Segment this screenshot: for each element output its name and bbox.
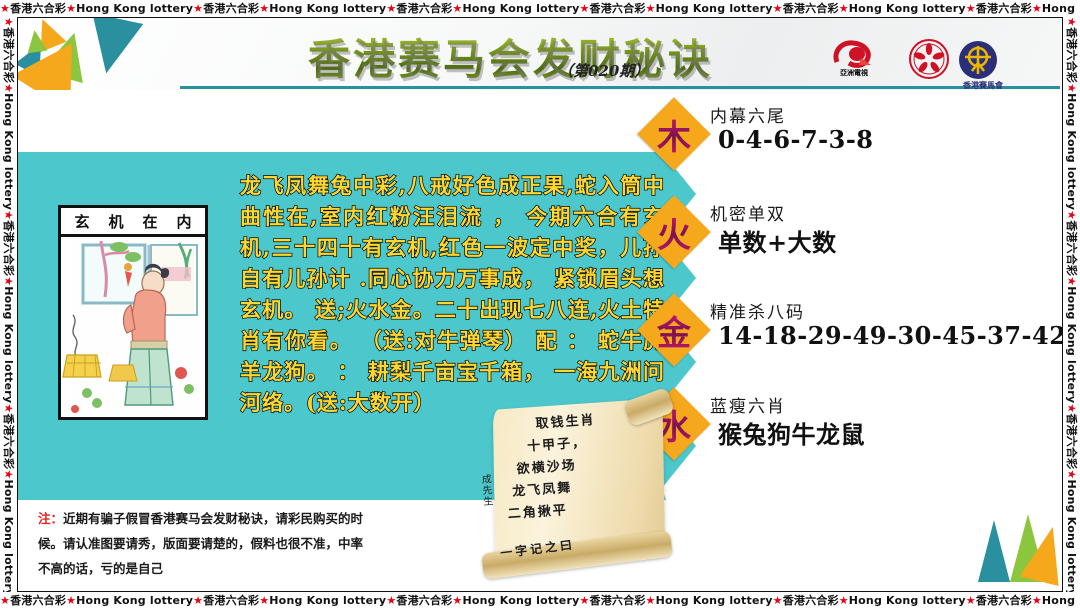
marquee-top-text: ★香港六合彩★Hong Kong lottery★香港六合彩★Hong Kong… xyxy=(0,2,1080,15)
prediction-label-water: 蓝瘦六肖 xyxy=(710,392,786,417)
marquee-top: ★香港六合彩★Hong Kong lottery★香港六合彩★Hong Kong… xyxy=(0,0,1080,17)
prediction-row-water: 水 蓝瘦六肖 猴兔狗牛龙鼠 xyxy=(648,392,1058,466)
illustration-svg xyxy=(61,237,205,417)
note-line-1: 近期有骗子假冒香港赛马会发财秘诀，请彩民购买的时 xyxy=(63,511,363,526)
element-glyph-metal: 金 xyxy=(648,304,700,356)
disclaimer-note: 注：近期有骗子假冒香港赛马会发财秘诀，请彩民购买的时 候。请认准图要请秀，版面要… xyxy=(38,506,478,581)
prediction-row-wood: 木 内幕六尾 0-4-6-7-3-8 xyxy=(648,102,1058,176)
note-line-3: 不高的话，亏的是自己 xyxy=(38,561,163,576)
illustration-header: 玄 机 在 内 xyxy=(61,208,205,237)
illustration-card: 玄 机 在 内 xyxy=(58,205,208,420)
marquee-left: ★香港六合彩★Hong Kong lottery★香港六合彩★Hong Kong… xyxy=(0,17,17,592)
issue-number: （第020期） xyxy=(558,60,649,81)
illustration-char-3: 在 xyxy=(142,211,157,232)
note-line-2: 候。请认准图要请秀，版面要请楚的，假料也很不准，中率 xyxy=(38,536,363,551)
marquee-bottom: ★香港六合彩★Hong Kong lottery★香港六合彩★Hong Kong… xyxy=(0,592,1080,609)
poster-header: 香港赛马会发财秘诀 （第020期） 亞洲電視 xyxy=(18,18,1062,90)
prediction-value-water: 猴兔狗牛龙鼠 xyxy=(718,415,865,450)
prediction-label-metal: 精准杀八码 xyxy=(710,298,805,323)
prediction-value-fire: 单数+大数 xyxy=(718,223,837,258)
illustration-char-2: 机 xyxy=(108,211,123,232)
marquee-right-text: ★香港六合彩★Hong Kong lottery★香港六合彩★Hong Kong… xyxy=(1063,17,1080,592)
prediction-label-wood: 内幕六尾 xyxy=(710,102,786,127)
poster-body: 玄 机 在 内 xyxy=(18,90,1062,592)
prediction-value-metal: 14-18-29-49-30-45-37-42 xyxy=(718,321,1063,350)
atv-logo-caption: 亞洲電視 xyxy=(823,68,885,78)
triangle-teal-bottom xyxy=(978,520,1010,582)
header-divider xyxy=(180,86,1060,89)
scroll-graphic: 取钱生肖 十甲子， 欲横沙场 龙飞凤舞 二角揪平 成先生 一字记之曰 xyxy=(476,390,686,592)
marquee-right: ★香港六合彩★Hong Kong lottery★香港六合彩★Hong Kong… xyxy=(1063,17,1080,592)
note-prefix: 注： xyxy=(38,511,63,526)
page-title: 香港赛马会发财秘诀 xyxy=(308,26,713,87)
prediction-row-metal: 金 精准杀八码 14-18-29-49-30-45-37-42 xyxy=(648,298,1058,372)
illustration-char-4: 内 xyxy=(176,211,191,232)
marquee-bottom-text: ★香港六合彩★Hong Kong lottery★香港六合彩★Hong Kong… xyxy=(0,594,1080,607)
element-glyph-fire: 火 xyxy=(648,206,700,258)
poem-text: 龙飞凤舞兔中彩,八戒好色成正果,蛇入筒中曲性在,室内红粉汪泪流 ， 今期六合有玄… xyxy=(240,170,665,418)
prediction-label-fire: 机密单双 xyxy=(710,200,786,225)
poster-frame: 香港赛马会发财秘诀 （第020期） 亞洲電視 xyxy=(17,17,1063,592)
scroll-signature: 成先生 xyxy=(477,474,494,508)
illustration-artwork xyxy=(61,237,205,417)
element-glyph-wood: 木 xyxy=(648,108,700,160)
lottery-poster: ★香港六合彩★Hong Kong lottery★香港六合彩★Hong Kong… xyxy=(0,0,1080,609)
atv-logo: 亞洲電視 xyxy=(823,40,885,78)
hong-kong-emblem xyxy=(908,38,950,80)
marquee-left-text: ★香港六合彩★Hong Kong lottery★香港六合彩★Hong Kong… xyxy=(0,17,17,592)
prediction-row-fire: 火 机密单双 单数+大数 xyxy=(648,200,1058,274)
illustration-char-1: 玄 xyxy=(74,211,89,232)
triangle-green-small xyxy=(25,29,48,54)
prediction-value-wood: 0-4-6-7-3-8 xyxy=(718,125,874,154)
